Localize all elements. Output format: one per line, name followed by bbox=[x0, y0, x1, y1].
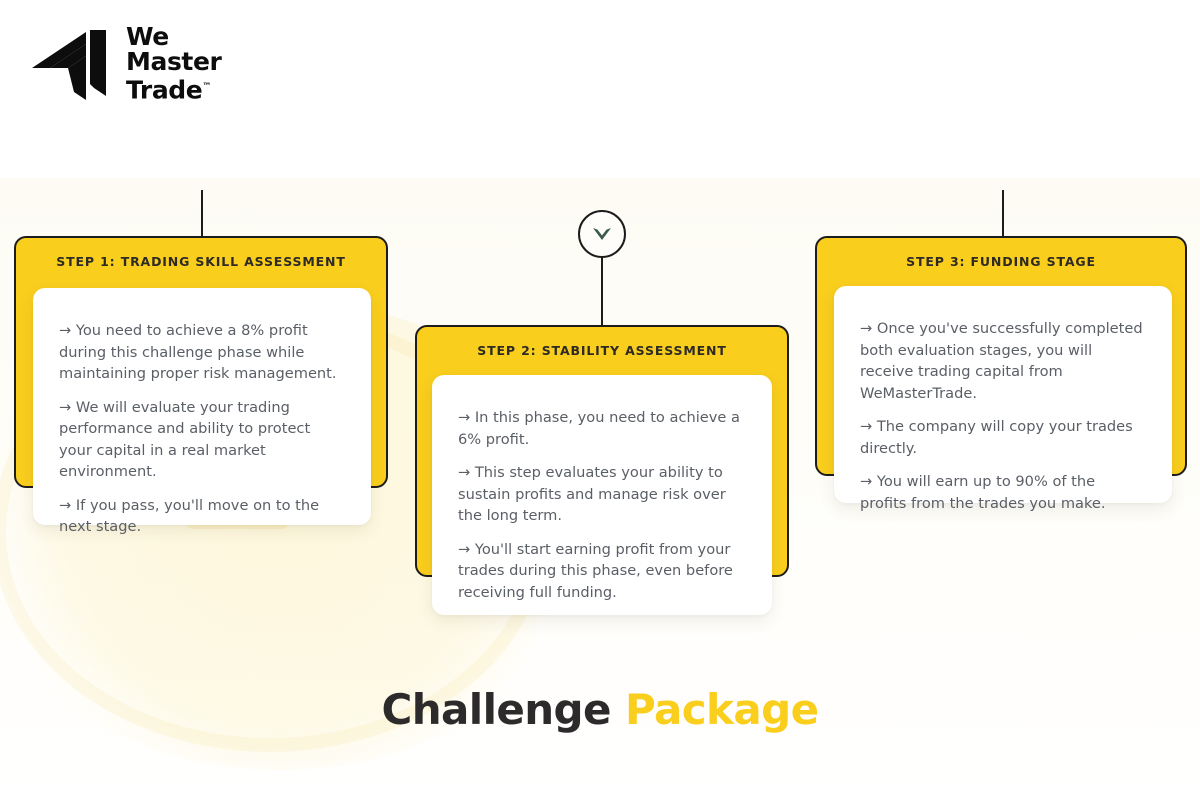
brand-wordmark: We Master Trade™ bbox=[126, 24, 221, 103]
flow-node-circle[interactable] bbox=[578, 210, 626, 258]
connector-line-step-3 bbox=[1002, 190, 1004, 240]
step-card-3-body: → Once you've successfully completed bot… bbox=[834, 286, 1172, 503]
step-bullet: → Once you've successfully completed bot… bbox=[860, 318, 1146, 404]
step-bullet: → In this phase, you need to achieve a 6… bbox=[458, 407, 746, 450]
step-bullet: → You will earn up to 90% of the profits… bbox=[860, 471, 1146, 514]
step-bullet: → If you pass, you'll move on to the nex… bbox=[59, 495, 345, 538]
step-card-1-body: → You need to achieve a 8% profit during… bbox=[33, 288, 371, 525]
step-card-1-title: STEP 1: TRADING SKILL ASSESSMENT bbox=[14, 254, 388, 269]
chevron-down-icon bbox=[591, 226, 613, 242]
wemastertrade-arrow-logo-icon bbox=[28, 22, 112, 104]
step-bullet: → You need to achieve a 8% profit during… bbox=[59, 320, 345, 385]
page-title: Challenge Package bbox=[0, 685, 1200, 734]
trademark-symbol: ™ bbox=[202, 82, 211, 92]
step-card-2-body: → In this phase, you need to achieve a 6… bbox=[432, 375, 772, 615]
connector-line-step-2 bbox=[601, 257, 603, 329]
step-card-2-title: STEP 2: STABILITY ASSESSMENT bbox=[415, 343, 789, 358]
brand-logo[interactable]: We Master Trade™ bbox=[28, 22, 221, 104]
step-bullet: → The company will copy your trades dire… bbox=[860, 416, 1146, 459]
page-title-primary: Challenge bbox=[382, 685, 611, 734]
step-card-3-title: STEP 3: FUNDING STAGE bbox=[815, 254, 1187, 269]
connector-line-step-1 bbox=[201, 190, 203, 240]
step-bullet: → We will evaluate your trading performa… bbox=[59, 397, 345, 483]
step-bullet: → This step evaluates your ability to su… bbox=[458, 462, 746, 527]
page-title-accent: Package bbox=[625, 685, 819, 734]
step-bullet: → You'll start earning profit from your … bbox=[458, 539, 746, 604]
